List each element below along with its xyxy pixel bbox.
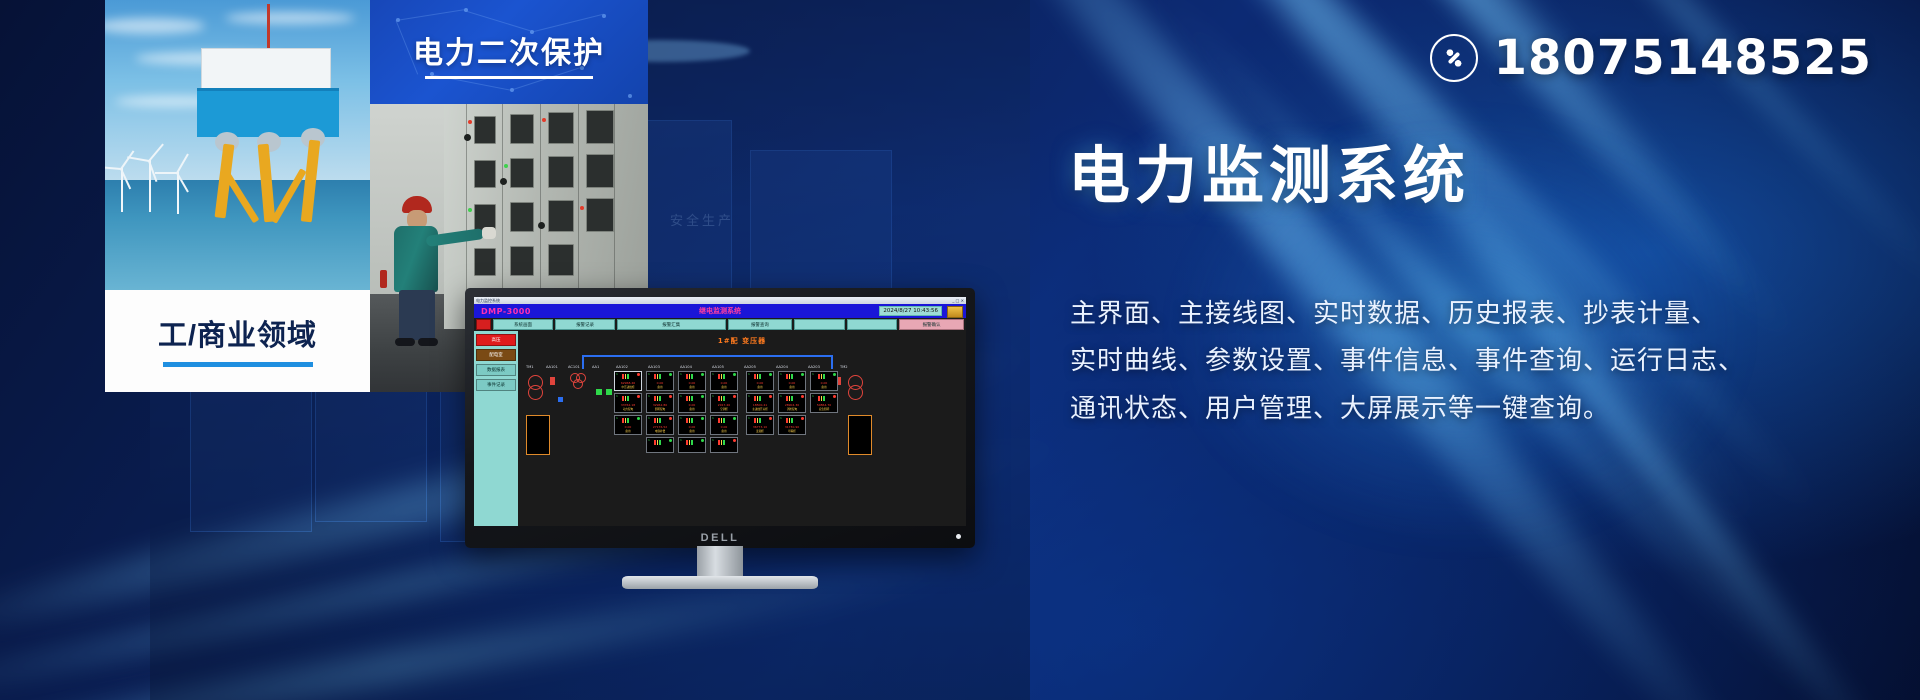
scada-header: DMP-3000 继电监测系统 2024/8/27 10:43:56 — [474, 304, 966, 318]
cell-label: 备用 — [679, 429, 705, 433]
label-card-bottom-text: 工/商业领域 — [105, 312, 370, 354]
cell-status-dot — [769, 395, 772, 398]
scada-sidebar-event-log[interactable]: 事件记录 — [476, 379, 516, 391]
cell-label: 动力配电 — [615, 407, 641, 411]
cell-label: 备用 — [647, 385, 673, 389]
scada-bus-drop-right — [831, 355, 833, 369]
cell-index: 1 — [748, 372, 750, 376]
cell-status-dot — [801, 373, 804, 376]
scada-cell[interactable]: 1 0.00 备用 — [678, 415, 706, 435]
cell-index: 1 — [780, 394, 782, 398]
cell-label: 消防配电 — [779, 407, 805, 411]
scada-diagram-canvas[interactable]: 1#配 变压器 — [518, 331, 966, 526]
scada-cell[interactable]: 1 0.00 备用 — [678, 371, 706, 391]
label-card-industrial-commercial: 工/商业领域 — [105, 290, 370, 392]
scada-cell[interactable]: 1 0.00 备用 — [614, 415, 642, 435]
scada-main-bus — [582, 355, 832, 357]
cell-status-dot — [833, 395, 836, 398]
scada-cell[interactable]: 1 18500.41 主进线开关柜 — [746, 393, 774, 413]
scada-status-green-2 — [606, 389, 612, 395]
scada-menu-spare-1[interactable] — [794, 319, 844, 330]
cell-status-dot — [701, 373, 704, 376]
scada-cell[interactable]: 1 27176.52 电容补偿 — [646, 415, 674, 435]
scada-menu-alarm-log[interactable]: 报警记录 — [555, 319, 615, 330]
scada-cell[interactable]: 1 0.00 备用 — [710, 415, 738, 435]
monitor-power-led — [956, 534, 961, 539]
scada-window-titlebar: 电力监控系统 _ □ ✕ — [474, 297, 966, 304]
scada-menubar: 系统画面 报警记录 报警汇集 报警查询 报警确认 — [474, 318, 966, 331]
cell-label: 备用 — [811, 385, 837, 389]
window-controls[interactable]: _ □ ✕ — [952, 298, 964, 303]
scada-menu-alarm-collect[interactable]: 报警汇集 — [617, 319, 725, 330]
cell-status-dot — [801, 417, 804, 420]
cell-status-dot — [769, 417, 772, 420]
cell-index: 1 — [780, 372, 782, 376]
cell-label: 应急照明 — [811, 407, 837, 411]
fire-extinguisher — [380, 270, 387, 288]
scada-transformer-tm2-b — [848, 385, 863, 400]
cell-status-dot — [637, 395, 640, 398]
cell-index: 1 — [616, 372, 618, 376]
cell-status-dot — [733, 417, 736, 420]
scada-right-meter-panel[interactable] — [848, 415, 872, 455]
cell-index: 1 — [648, 394, 650, 398]
cell-index: 1 — [648, 416, 650, 420]
desc-line-2: 实时曲线、参数设置、事件信息、事件查询、运行日志、 — [1070, 337, 1870, 384]
scada-bus-drop-left — [582, 355, 584, 369]
scada-cell[interactable]: 1 62968.46 中压进线柜 — [614, 371, 642, 391]
cell-status-dot — [669, 395, 672, 398]
cell-index: 1 — [780, 416, 782, 420]
scada-breaker-aa101[interactable] — [550, 377, 555, 385]
scada-cell[interactable]: 1 0.00 备用 — [646, 371, 674, 391]
page-title: 电力监测系统 — [1068, 125, 1470, 215]
cell-status-dot — [733, 395, 736, 398]
cell-status-dot — [701, 439, 704, 442]
scada-diagram-title: 1#配 变压器 — [518, 336, 966, 346]
cell-status-dot — [669, 439, 672, 442]
cell-index: 1 — [712, 394, 714, 398]
cell-status-dot — [701, 395, 704, 398]
monitor-base — [622, 576, 818, 589]
scada-cell[interactable]: 1 — [710, 437, 738, 453]
cell-label: 备用 — [679, 407, 705, 411]
cell-status-dot — [701, 417, 704, 420]
scada-sidebar-high-voltage[interactable]: 高压 — [476, 334, 516, 346]
scada-menu-system[interactable]: 系统画面 — [493, 319, 553, 330]
cell-index: 1 — [748, 394, 750, 398]
scada-cell[interactable]: 1 0.00 备用 — [778, 371, 806, 391]
cell-label: 备用 — [615, 429, 641, 433]
scada-cell[interactable]: 1 31730.90 母联柜 — [778, 415, 806, 435]
scada-tag-aa102: AA102 — [616, 365, 628, 369]
monitor-brand-label: DELL — [465, 532, 975, 544]
scada-ct-ac101-c — [573, 379, 583, 389]
scada-tag-aa101: AA101 — [546, 365, 558, 369]
cell-index: 1 — [812, 394, 814, 398]
scada-tag-aa1: AA1 — [592, 365, 599, 369]
cell-status-dot — [637, 417, 640, 420]
scada-cell[interactable]: 1 0.00 备用 — [746, 371, 774, 391]
cell-label: 中压进线柜 — [615, 385, 641, 389]
scada-tag-aa103: AA103 — [648, 365, 660, 369]
monitor-neck — [697, 546, 743, 580]
cell-index: 1 — [648, 438, 650, 442]
cell-status-dot — [733, 373, 736, 376]
scada-sidebar-distribution-room[interactable]: 配电室 — [476, 349, 516, 361]
scada-cell[interactable]: 1 33762.18 动力配电 — [614, 393, 642, 413]
scada-tag-tm1: TM1 — [526, 365, 534, 369]
cell-index: 1 — [680, 372, 682, 376]
offshore-wind-substation-photo — [105, 0, 370, 290]
label-card-bottom-rule — [163, 362, 313, 367]
scada-cell[interactable]: 1 28904.30 消防配电 — [778, 393, 806, 413]
cell-label: 空调柜 — [711, 407, 737, 411]
cell-status-dot — [801, 395, 804, 398]
scada-body: 高压 配电室 数据报表 事件记录 1#配 变压器 — [474, 331, 966, 526]
cell-label: 母联柜 — [779, 429, 805, 433]
cell-label: 备用 — [711, 429, 737, 433]
label-card-top-rule — [425, 76, 593, 79]
banner-text-pane: 18075148525 电力监测系统 主界面、主接线图、实时数据、历史报表、抄表… — [1060, 0, 1920, 700]
scada-alarm-indicator[interactable] — [476, 319, 491, 330]
cell-status-dot — [833, 373, 836, 376]
cell-index: 1 — [712, 438, 714, 442]
scada-cell[interactable]: 1 0.00 备用 — [710, 371, 738, 391]
scada-left-meter-panel[interactable] — [526, 415, 550, 455]
cell-status-dot — [669, 417, 672, 420]
cell-index: 1 — [648, 372, 650, 376]
cell-index: 1 — [616, 394, 618, 398]
cell-label: 变频柜 — [747, 429, 773, 433]
scada-cell[interactable]: 1 0.00 备用 — [678, 393, 706, 413]
scada-tag-aa104: AA104 — [680, 365, 692, 369]
cell-label: 备用 — [779, 385, 805, 389]
scada-window-title: 电力监控系统 — [476, 298, 500, 304]
scada-cell[interactable]: 1 36773.10 变频柜 — [746, 415, 774, 435]
desc-line-3: 通讯状态、用户管理、大屏展示等一键查询。 — [1070, 385, 1870, 432]
label-card-power-protection: 电力二次保护 — [370, 0, 648, 104]
cell-status-dot — [637, 373, 640, 376]
scada-tag-aa203: AA203 — [808, 365, 820, 369]
scada-tag-ac101: AC101 — [568, 365, 580, 369]
scada-clock: 2024/8/27 10:43:56 — [879, 306, 942, 316]
phone-circle-icon — [1430, 34, 1478, 82]
scada-tag-tm2: TM2 — [840, 365, 848, 369]
scada-screen[interactable]: 电力监控系统 _ □ ✕ DMP-3000 继电监测系统 2024/8/27 1… — [474, 297, 966, 526]
cell-label: 备用 — [747, 385, 773, 389]
promo-banner: 电力安全生产 安全生产 — [0, 0, 1920, 700]
cell-index: 1 — [812, 372, 814, 376]
scada-cell[interactable]: 1 32962.80 照明配电 — [646, 393, 674, 413]
scada-cell[interactable]: 1 0.00 备用 — [810, 371, 838, 391]
cell-index: 1 — [680, 394, 682, 398]
scada-menu-spare-2[interactable] — [847, 319, 897, 330]
cell-index: 1 — [748, 416, 750, 420]
label-card-top-text: 电力二次保护 — [370, 28, 648, 72]
scada-transformer-tm1-b — [528, 385, 543, 400]
cell-label: 备用 — [711, 385, 737, 389]
scada-cell[interactable]: 1 — [646, 437, 674, 453]
cell-index: 1 — [616, 416, 618, 420]
scada-sidebar: 高压 配电室 数据报表 事件记录 — [474, 331, 518, 526]
cell-index: 1 — [712, 416, 714, 420]
cell-index: 1 — [712, 372, 714, 376]
scada-cell[interactable]: 1 50864.70 应急照明 — [810, 393, 838, 413]
scada-tag-aa205: AA205 — [744, 365, 756, 369]
desc-line-1: 主界面、主接线图、实时数据、历史报表、抄表计量、 — [1070, 290, 1870, 337]
scada-tag-aa204: AA204 — [776, 365, 788, 369]
scada-cell[interactable]: 1 2917.20 空调柜 — [710, 393, 738, 413]
feature-description: 主界面、主接线图、实时数据、历史报表、抄表计量、 实时曲线、参数设置、事件信息、… — [1070, 290, 1870, 432]
cell-label: 主进线开关柜 — [747, 407, 773, 411]
cell-status-dot — [733, 439, 736, 442]
cell-index: 1 — [680, 416, 682, 420]
cell-index: 1 — [680, 438, 682, 442]
scada-menu-alarm-query[interactable]: 报警查询 — [728, 319, 793, 330]
desktop-monitor: 电力监控系统 _ □ ✕ DMP-3000 继电监测系统 2024/8/27 1… — [465, 288, 975, 588]
contact-phone-row[interactable]: 18075148525 — [1430, 30, 1872, 86]
scada-node-left — [558, 397, 563, 402]
worker-figure — [392, 196, 448, 346]
cell-label: 电容补偿 — [647, 429, 673, 433]
cell-status-dot — [769, 373, 772, 376]
scada-menu-alarm-ack[interactable]: 报警确认 — [899, 319, 964, 330]
scada-cell[interactable]: 1 — [678, 437, 706, 453]
scada-status-green-1 — [596, 389, 602, 395]
cell-label: 照明配电 — [647, 407, 673, 411]
cell-status-dot — [669, 373, 672, 376]
scada-sidebar-data-report[interactable]: 数据报表 — [476, 364, 516, 376]
phone-number: 18075148525 — [1494, 30, 1872, 86]
substation-platform — [193, 48, 343, 168]
monitor-bezel: 电力监控系统 _ □ ✕ DMP-3000 继电监测系统 2024/8/27 1… — [465, 288, 975, 548]
scada-app-icon[interactable] — [947, 306, 963, 318]
scada-tag-aa105: AA105 — [712, 365, 724, 369]
cell-label: 备用 — [679, 385, 705, 389]
